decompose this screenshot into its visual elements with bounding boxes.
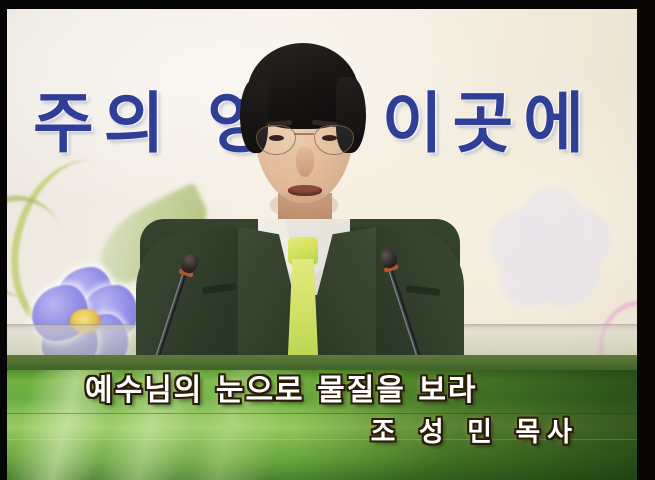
mouth [288, 185, 322, 196]
letterbox-left [0, 0, 7, 480]
decor-ghost-flower-icon [485, 187, 615, 313]
lower-third-title-bar: 예수님의 눈으로 물질을 보라 조 성 민 목사 [7, 370, 637, 480]
eye-left [269, 135, 284, 141]
video-picture-area: 주의 영이 이곳에 [7, 9, 637, 371]
letterbox-top [0, 0, 655, 9]
pulpit-front [7, 355, 637, 371]
title-bar-divider [7, 413, 637, 414]
chin [270, 193, 338, 219]
eye-right [322, 135, 337, 141]
speaker-name: 조 성 민 목사 [371, 416, 579, 450]
speaker-figure [130, 43, 470, 371]
sermon-title: 예수님의 눈으로 물질을 보라 [85, 372, 478, 410]
letterbox-right [637, 0, 655, 480]
video-frame: 주의 영이 이곳에 [0, 0, 655, 480]
